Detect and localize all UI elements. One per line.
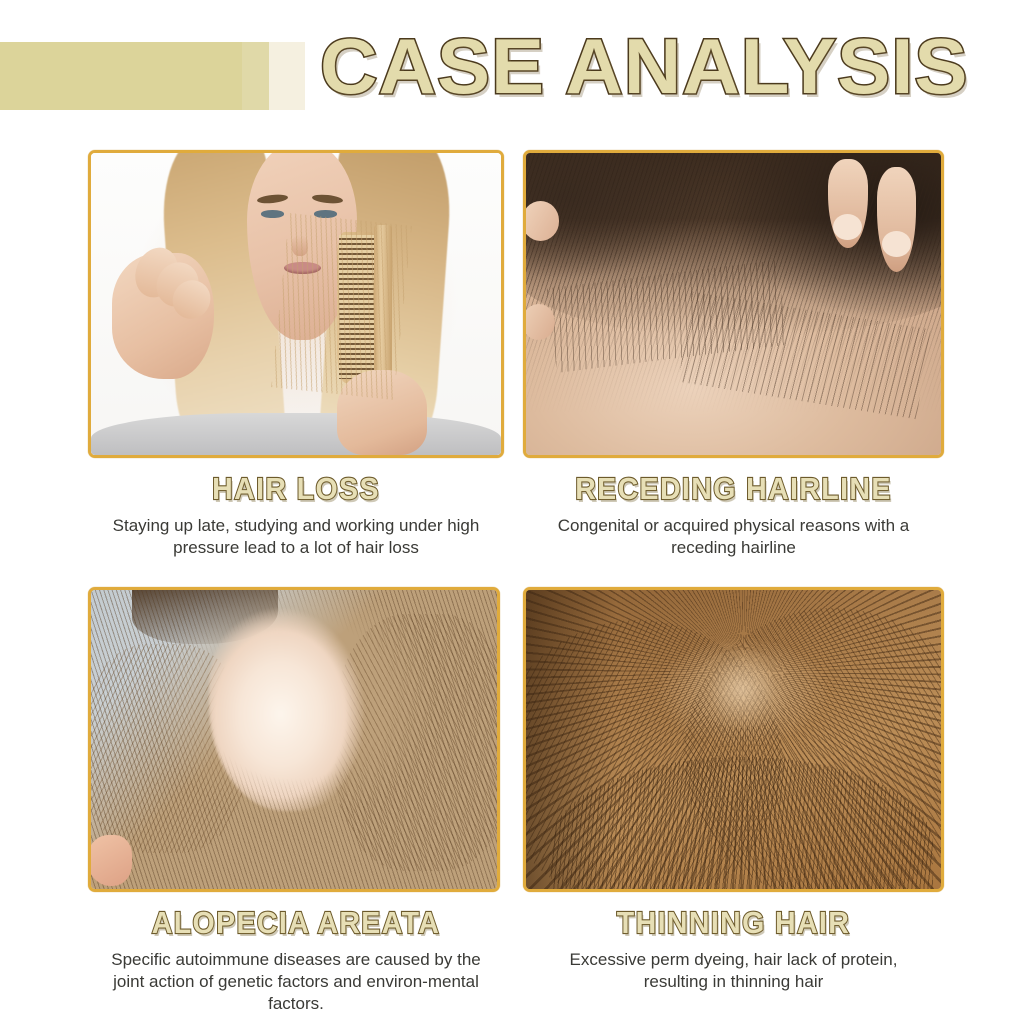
case-card-alopecia-areata[interactable]: ALOPECIA AREATA Specific autoimmune dise… <box>88 587 504 1015</box>
case-card-thinning-hair[interactable]: THINNING HAIR Excessive perm dyeing, hai… <box>523 587 944 1015</box>
photo-receding-hairline <box>526 153 941 455</box>
accent-bar-segment-2 <box>242 42 269 110</box>
photo-hair-loss <box>91 153 501 455</box>
photo-frame-receding-hairline <box>523 150 944 458</box>
page-title: CASE ANALYSIS <box>320 22 932 112</box>
photo-thinning-hair <box>526 590 941 889</box>
eye-left <box>261 210 284 217</box>
fingernail-b <box>882 231 911 257</box>
card-heading-thinning-hair: THINNING HAIR <box>540 906 927 940</box>
photo-alopecia-areata <box>91 590 497 889</box>
ear-shape <box>91 835 132 886</box>
card-row-bottom: ALOPECIA AREATA Specific autoimmune dise… <box>88 587 944 1015</box>
decorative-accent-bar <box>0 42 305 110</box>
hair-texture-overlay <box>91 590 497 889</box>
photo-frame-thinning-hair <box>523 587 944 892</box>
row-spacer <box>88 559 944 587</box>
card-body-alopecia-areata: Specific autoimmune diseases are caused … <box>100 949 491 1015</box>
card-heading-receding-hairline: RECEDING HAIRLINE <box>540 472 927 506</box>
case-card-hair-loss[interactable]: HAIR LOSS Staying up late, studying and … <box>88 150 504 559</box>
crown-thinning-area <box>692 650 792 728</box>
hand-holding-hair <box>817 153 933 292</box>
card-row-top: HAIR LOSS Staying up late, studying and … <box>88 150 944 559</box>
photo-frame-hair-loss <box>88 150 504 458</box>
case-card-receding-hairline[interactable]: RECEDING HAIRLINE Congenital or acquired… <box>523 150 944 559</box>
accent-bar-segment-3 <box>269 42 305 110</box>
fingernail-a <box>833 214 862 240</box>
dark-vignette-edge <box>526 590 617 889</box>
card-heading-hair-loss: HAIR LOSS <box>105 472 488 506</box>
photo-frame-alopecia-areata <box>88 587 500 892</box>
page-header: CASE ANALYSIS <box>0 0 1024 130</box>
loose-hair-strands <box>271 213 412 400</box>
case-card-grid: HAIR LOSS Staying up late, studying and … <box>88 150 944 1015</box>
card-heading-alopecia-areata: ALOPECIA AREATA <box>105 906 488 940</box>
card-body-hair-loss: Staying up late, studying and working un… <box>100 515 491 559</box>
accent-bar-segment-1 <box>0 42 242 110</box>
grey-shirt <box>91 413 501 455</box>
card-body-receding-hairline: Congenital or acquired physical reasons … <box>536 515 932 559</box>
card-body-thinning-hair: Excessive perm dyeing, hair lack of prot… <box>536 949 932 993</box>
